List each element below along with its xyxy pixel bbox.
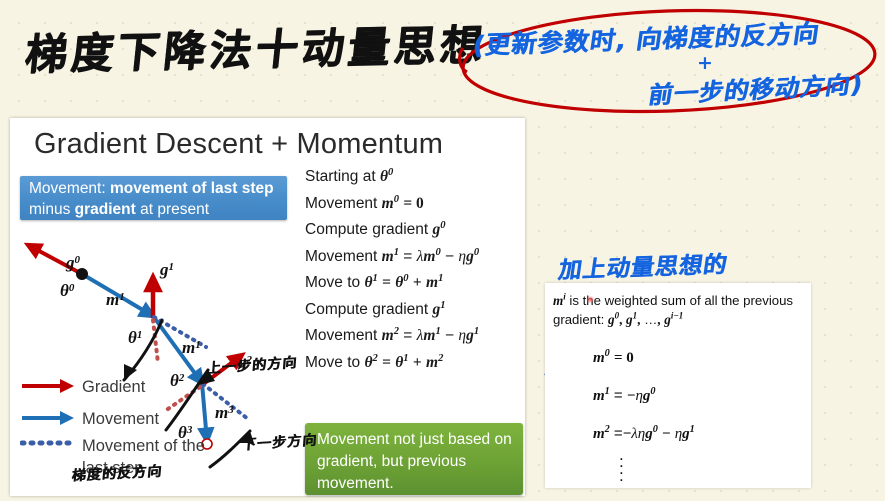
blue-callout-prefix: Movement: [29,180,110,197]
equation-m1: m1 = −ηg0 [593,377,695,415]
formula-card: mi is the weighted sum of all the previo… [545,283,811,488]
handwritten-blue-note-line2: 前一步的移动方向) [646,64,866,110]
equation-m0: m0 = 0 [593,339,695,377]
label-theta0: θ0 [60,281,75,300]
blue-arrow-icon [20,409,76,427]
legend-item-gradient: Gradient [20,370,232,402]
step-0: Starting at θ0 [305,164,530,191]
formula-card-ellipsis: .... [619,451,624,479]
slide-card: Gradient Descent + Momentum Movement: mo… [10,118,525,496]
legend-label-gradient: Gradient [82,374,145,399]
algorithm-step-list: Starting at θ0 Movement m0 = 0 Compute g… [305,164,530,376]
right-note-line1: 加上动量思想的 [556,249,729,287]
lead-mi: mi [553,293,566,308]
blue-callout-middle: minus [29,201,75,218]
handwritten-blue-note-line1: (更新参数时, 向梯度的反方向 [471,14,823,62]
dotted-blue-line-icon [20,434,76,452]
equation-m2: m2 =−ληg0 − ηg1 [593,415,695,453]
step-2: Compute gradient g0 [305,217,530,244]
blue-callout-box: Movement: movement of last step minus gr… [20,176,287,220]
slide-canvas: 梯度下降法十动量思想 (更新参数时, 向梯度的反方向 前一步的移动方向) + G… [0,0,885,501]
label-g1: g1 [159,260,174,279]
slide-title: Gradient Descent + Momentum [34,128,443,161]
step-3: Movement m1 = λm0 − ηg0 [305,244,530,271]
handwritten-title: 梯度下降法十动量思想 [22,11,489,82]
legend-item-movement: Movement [20,402,232,434]
step-1: Movement m0 = 0 [305,191,530,218]
formula-card-equations: m0 = 0 m1 = −ηg0 m2 =−ληg0 − ηg1 [593,339,695,453]
label-g0: g0 [65,253,81,272]
legend-label-movement: Movement [82,406,159,431]
handwritten-plus-sign: + [697,52,713,74]
formula-card-lead-text: mi is the weighted sum of all the previo… [553,291,805,329]
blue-callout-bold2: gradient [75,201,136,218]
label-m1: m1 [106,290,125,309]
step-4: Move to θ1 = θ0 + m1 [305,270,530,297]
label-theta1: θ1 [128,328,142,347]
green-callout-box: Movement not just based on gradient, but… [305,423,523,495]
blue-callout-bold1: movement of last step [110,180,274,197]
red-arrow-icon [20,377,76,395]
blue-callout-suffix: at present [136,201,209,218]
label-m2: m1 [182,338,201,357]
step-6: Movement m2 = λm1 − ηg1 [305,323,530,350]
step-7: Move to θ2 = θ1 + m2 [305,350,530,377]
step-5: Compute gradient g1 [305,297,530,324]
